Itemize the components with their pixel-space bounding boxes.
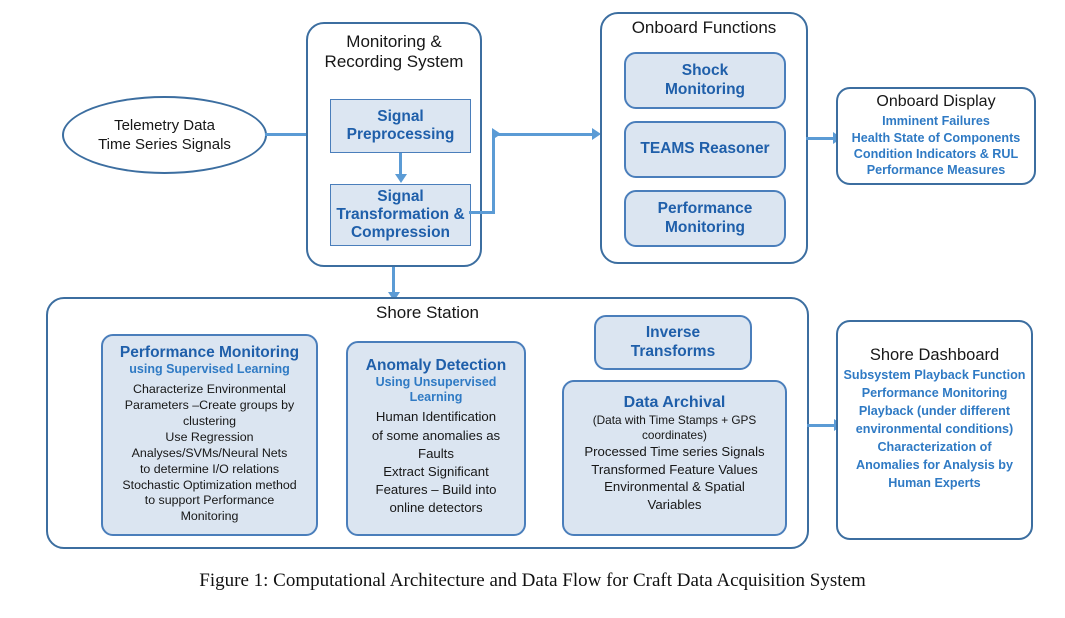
signal-preprocessing-line-1: Signal (377, 108, 424, 126)
figure-canvas: Telemetry Data Time Series Signals Monit… (0, 0, 1065, 618)
anomaly-line-3: Extract Significant (383, 463, 489, 481)
connector-preprocessing-to-transformation (399, 153, 402, 176)
shore-pm-line-0: Characterize Environmental (133, 382, 286, 398)
shore-dashboard-line-4: Characterization of (877, 439, 991, 457)
shore-pm-line-3: Use Regression (165, 430, 253, 446)
inverse-transforms-line-1: Inverse (646, 324, 700, 342)
inverse-transforms-line-2: Transforms (631, 343, 715, 361)
signal-transformation-line-3: Compression (351, 224, 450, 242)
shore-pm-line-5: to determine I/O relations (140, 462, 279, 478)
shore-pm-line-7: to support Performance (145, 493, 274, 509)
shore-pm-line-2: clustering (183, 414, 236, 430)
shore-dashboard-line-0: Subsystem Playback Function (844, 367, 1026, 385)
data-archival-line-4: Environmental & Spatial (604, 478, 745, 496)
shore-pm-line-8: Monitoring (181, 509, 239, 525)
onboard-functions-title-text: Onboard Functions (632, 18, 777, 38)
shock-monitoring-line-2: Monitoring (665, 81, 745, 99)
connector-transformation-out-vertical (492, 134, 495, 214)
anomaly-line-1: of some anomalies as (372, 427, 500, 445)
onboard-display-box: Onboard Display Imminent Failures Health… (836, 87, 1036, 185)
shore-performance-monitoring-subtitle: using Supervised Learning (129, 362, 289, 377)
shore-pm-line-4: Analyses/SVMs/Neural Nets (132, 446, 288, 462)
connector-monitoring-to-onboard (492, 133, 595, 136)
shore-pm-line-6: Stochastic Optimization method (122, 478, 296, 494)
teams-reasoner-line-1: TEAMS Reasoner (640, 140, 769, 158)
anomaly-line-2: Faults (418, 445, 454, 463)
signal-transformation-line-2: Transformation & (336, 206, 464, 224)
data-archival-title: Data Archival (624, 394, 726, 413)
anomaly-line-5: online detectors (389, 499, 482, 517)
telemetry-line-2: Time Series Signals (98, 135, 231, 155)
shock-monitoring-line-1: Shock (682, 62, 729, 80)
shore-dashboard-line-5: Anomalies for Analysis by (856, 457, 1013, 475)
data-archival-line-5: Variables (648, 496, 702, 514)
telemetry-line-1: Telemetry Data (114, 116, 215, 136)
shock-monitoring-block[interactable]: Shock Monitoring (624, 52, 786, 109)
onboard-display-item-2: Condition Indicators & RUL (854, 146, 1018, 162)
monitoring-title-line-2: Recording System (325, 52, 464, 72)
signal-preprocessing-block[interactable]: Signal Preprocessing (330, 99, 471, 153)
onboard-functions-title: Onboard Functions (600, 18, 808, 38)
performance-monitoring-onboard-block[interactable]: Performance Monitoring (624, 190, 786, 247)
teams-reasoner-block[interactable]: TEAMS Reasoner (624, 121, 786, 178)
arrow-transformation-step-tip (492, 128, 501, 140)
performance-monitoring-onboard-line-1: Performance (658, 200, 753, 218)
performance-monitoring-onboard-line-2: Monitoring (665, 219, 745, 237)
signal-transformation-line-1: Signal (377, 188, 424, 206)
shore-performance-monitoring-title: Performance Monitoring (120, 344, 299, 362)
arrow-preprocessing-to-transformation (395, 174, 407, 183)
signal-transformation-compression-block[interactable]: Signal Transformation & Compression (330, 184, 471, 246)
shore-dashboard-line-2: Playback (under different (859, 403, 1010, 421)
shore-pm-line-1: Parameters –Create groups by (125, 398, 294, 414)
data-archival-block[interactable]: Data Archival (Data with Time Stamps + G… (562, 380, 787, 536)
anomaly-line-0: Human Identification (376, 408, 496, 426)
shore-dashboard-box: Shore Dashboard Subsystem Playback Funct… (836, 320, 1033, 540)
signal-preprocessing-line-2: Preprocessing (347, 126, 455, 144)
shore-dashboard-line-3: environmental conditions) (856, 421, 1013, 439)
anomaly-detection-subtitle-2: Learning (410, 390, 463, 405)
connector-monitoring-to-shore-station (392, 267, 395, 295)
data-archival-line-0: (Data with Time Stamps + GPS (593, 413, 757, 428)
data-archival-line-3: Transformed Feature Values (591, 461, 757, 479)
shore-performance-monitoring-block[interactable]: Performance Monitoring using Supervised … (101, 334, 318, 536)
data-archival-line-1: coordinates) (642, 428, 707, 443)
onboard-display-item-0: Imminent Failures (882, 113, 990, 129)
shore-dashboard-line-1: Performance Monitoring (862, 385, 1008, 403)
anomaly-line-4: Features – Build into (376, 481, 497, 499)
monitoring-recording-system-title: Monitoring & Recording System (306, 32, 482, 72)
data-archival-line-2: Processed Time series Signals (584, 443, 764, 461)
shore-dashboard-line-6: Human Experts (888, 475, 980, 493)
shore-dashboard-title: Shore Dashboard (870, 346, 999, 365)
telemetry-data-node: Telemetry Data Time Series Signals (62, 96, 267, 174)
inverse-transforms-block[interactable]: Inverse Transforms (594, 315, 752, 370)
onboard-display-item-3: Performance Measures (867, 162, 1006, 178)
anomaly-detection-title: Anomaly Detection (366, 357, 506, 375)
figure-caption: Figure 1: Computational Architecture and… (0, 570, 1065, 592)
anomaly-detection-subtitle-1: Using Unsupervised (376, 375, 497, 390)
shore-station-title-text: Shore Station (376, 303, 479, 323)
monitoring-title-line-1: Monitoring & (346, 32, 441, 52)
onboard-display-item-1: Health State of Components (852, 130, 1021, 146)
anomaly-detection-block[interactable]: Anomaly Detection Using Unsupervised Lea… (346, 341, 526, 536)
onboard-display-title: Onboard Display (876, 93, 995, 112)
